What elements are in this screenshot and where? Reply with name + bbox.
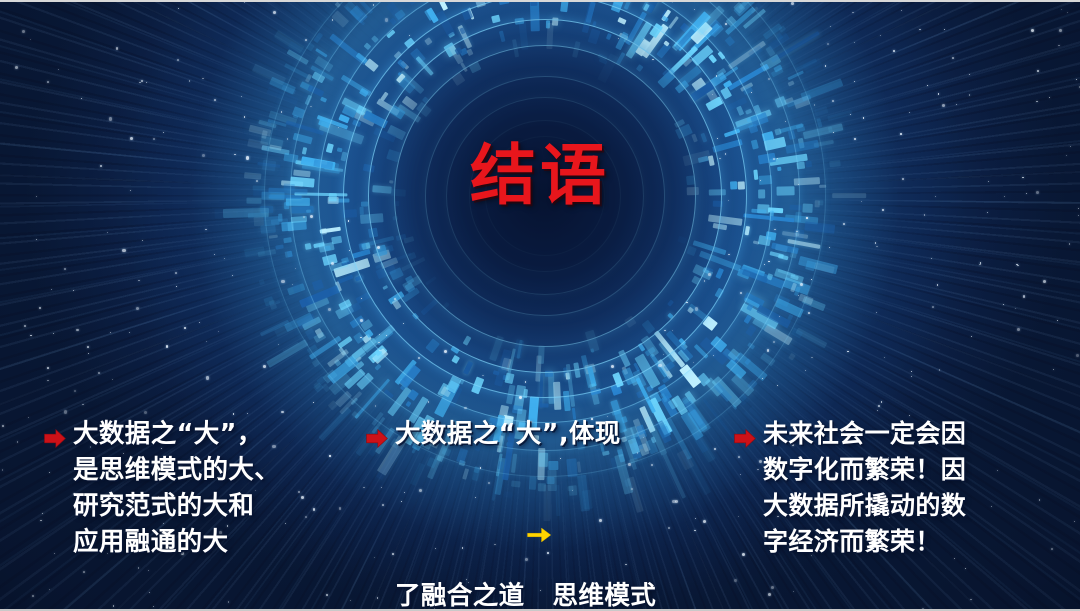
red-arrow-bullet-icon: [734, 429, 756, 448]
slide-title: 结语: [0, 143, 1080, 209]
bullet-column-2-text: 大数据之“大”,体现 了融合之道 思维模式 融合、方法路径融合和 行业发展理念融…: [395, 416, 724, 611]
bullet-column-3: 未来社会一定会因 数字化而繁荣！因 大数据所撬动的数 字经济而繁荣！: [724, 416, 1080, 606]
bullet-column-3-text: 未来社会一定会因 数字化而繁荣！因 大数据所撬动的数 字经济而繁荣！: [763, 416, 1080, 560]
bullet-column-2: 大数据之“大”,体现 了融合之道 思维模式 融合、方法路径融合和 行业发展理念融…: [352, 416, 724, 606]
bullet-column-1: 大数据之“大”， 是思维模式的大、 研究范式的大和 应用融通的大: [0, 416, 352, 606]
red-arrow-bullet-icon: [366, 429, 388, 448]
red-arrow-bullet-icon: [44, 429, 66, 448]
slide-title-text: 结语: [470, 143, 610, 209]
bullet-columns: 大数据之“大”， 是思维模式的大、 研究范式的大和 应用融通的大 大数据之“大”…: [0, 416, 1080, 606]
bullet-column-1-text: 大数据之“大”， 是思维模式的大、 研究范式的大和 应用融通的大: [73, 416, 352, 560]
gold-right-arrow-icon: [526, 452, 552, 474]
presentation-slide: 结语 大数据之“大”， 是思维模式的大、 研究范式的大和 应用融通的大 大数据之…: [0, 0, 1080, 611]
